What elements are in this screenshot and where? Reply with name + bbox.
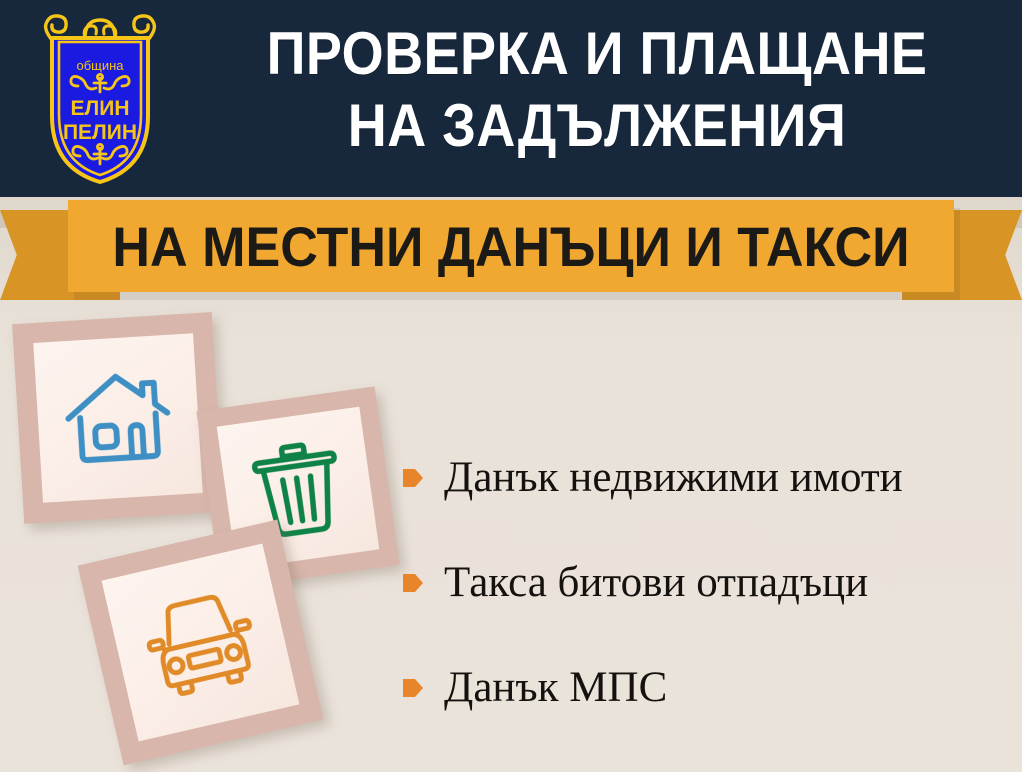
list-item[interactable]: Такса битови отпадъци [402, 530, 1008, 635]
bullet-arrow-icon [402, 466, 424, 490]
list-item-label: Данък недвижими имоти [444, 455, 903, 500]
page-title: ПРОВЕРКА И ПЛАЩАНЕ НА ЗАДЪЛЖЕНИЯ [220, 18, 974, 162]
ribbon-banner: НА МЕСТНИ ДАНЪЦИ И ТАКСИ [0, 196, 1022, 306]
list-item-label: Такса битови отпадъци [444, 560, 868, 605]
ribbon-label: НА МЕСТНИ ДАНЪЦИ И ТАКСИ [99, 200, 923, 292]
tax-type-list: Данък недвижими имоти Такса битови отпад… [402, 425, 1008, 740]
bullet-arrow-icon [402, 676, 424, 700]
list-item-label: Данък МПС [444, 665, 667, 710]
list-item[interactable]: Данък МПС [402, 635, 1008, 740]
bullet-arrow-icon [402, 571, 424, 595]
poster-canvas: ПРОВЕРКА И ПЛАЩАНЕ НА ЗАДЪЛЖЕНИЯ община [0, 0, 1022, 772]
logo-line-top: община [76, 58, 124, 73]
logo-line-bottom: ПЕЛИН [63, 121, 137, 144]
stamp-card-house [12, 312, 224, 524]
municipality-logo: община ЕЛИН ПЕЛИН [30, 8, 170, 188]
ribbon-main-panel: НА МЕСТНИ ДАНЪЦИ И ТАКСИ [68, 200, 954, 292]
list-item[interactable]: Данък недвижими имоти [402, 425, 1008, 530]
house-icon [12, 312, 224, 524]
logo-line-mid: ЕЛИН [70, 97, 129, 120]
